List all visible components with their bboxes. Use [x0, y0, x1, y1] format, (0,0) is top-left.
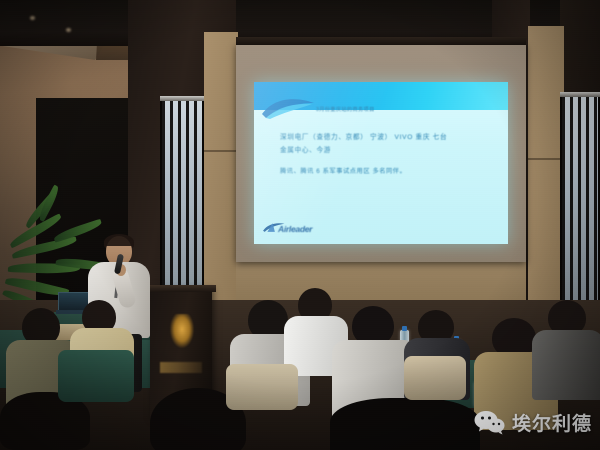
slide-body-text: 深圳电厂（查德力、京都） 宁波） VIVO 重庆 七台 金属中心、今游	[280, 132, 494, 157]
slide-body-line: 深圳电厂（查德力、京都） 宁波） VIVO 重庆 七台	[280, 132, 494, 145]
slide-title: 3月份重庆站的商务项目	[316, 106, 496, 113]
wechat-icon	[474, 410, 505, 435]
window-cap	[160, 96, 204, 101]
slide-note-text: 腾讯、腾讯 6 系军事试点用区 多名同伴。	[280, 166, 494, 175]
airleader-logo-text: Airleader	[278, 224, 312, 234]
slatted-window-screen-right	[560, 92, 600, 332]
wechat-watermark: 埃尔利德	[474, 409, 592, 436]
airleader-logo: Airleader	[262, 217, 348, 239]
presentation-slide: 3月份重庆站的商务项目 深圳电厂（查德力、京都） 宁波） VIVO 重庆 七台 …	[254, 82, 508, 244]
chair	[58, 350, 134, 402]
projection-screen-top-bar	[236, 37, 526, 45]
wall-panel-right	[528, 26, 564, 326]
panel-seam	[204, 150, 238, 152]
window-slats	[562, 95, 598, 330]
photograph-seminar-room: 3月份重庆站的商务项目 深圳电厂（查德力、京都） 宁波） VIVO 重庆 七台 …	[0, 0, 600, 450]
panel-seam	[528, 158, 564, 160]
window-cap	[560, 92, 600, 97]
wall-panel-left	[204, 32, 238, 324]
projection-screen: 3月份重庆站的商务项目 深圳电厂（查德力、京都） 宁波） VIVO 重庆 七台 …	[236, 44, 526, 262]
podium-nameplate	[160, 362, 202, 373]
podium-crest-icon	[170, 314, 194, 348]
chair	[404, 356, 466, 400]
ceiling-light-icon	[30, 16, 35, 20]
watermark-text: 埃尔利德	[512, 409, 592, 436]
ceiling-light-icon	[66, 28, 71, 32]
slide-swoosh-graphic	[260, 94, 316, 120]
chair	[226, 364, 298, 410]
slide-body-line: 金属中心、今游	[280, 145, 494, 158]
